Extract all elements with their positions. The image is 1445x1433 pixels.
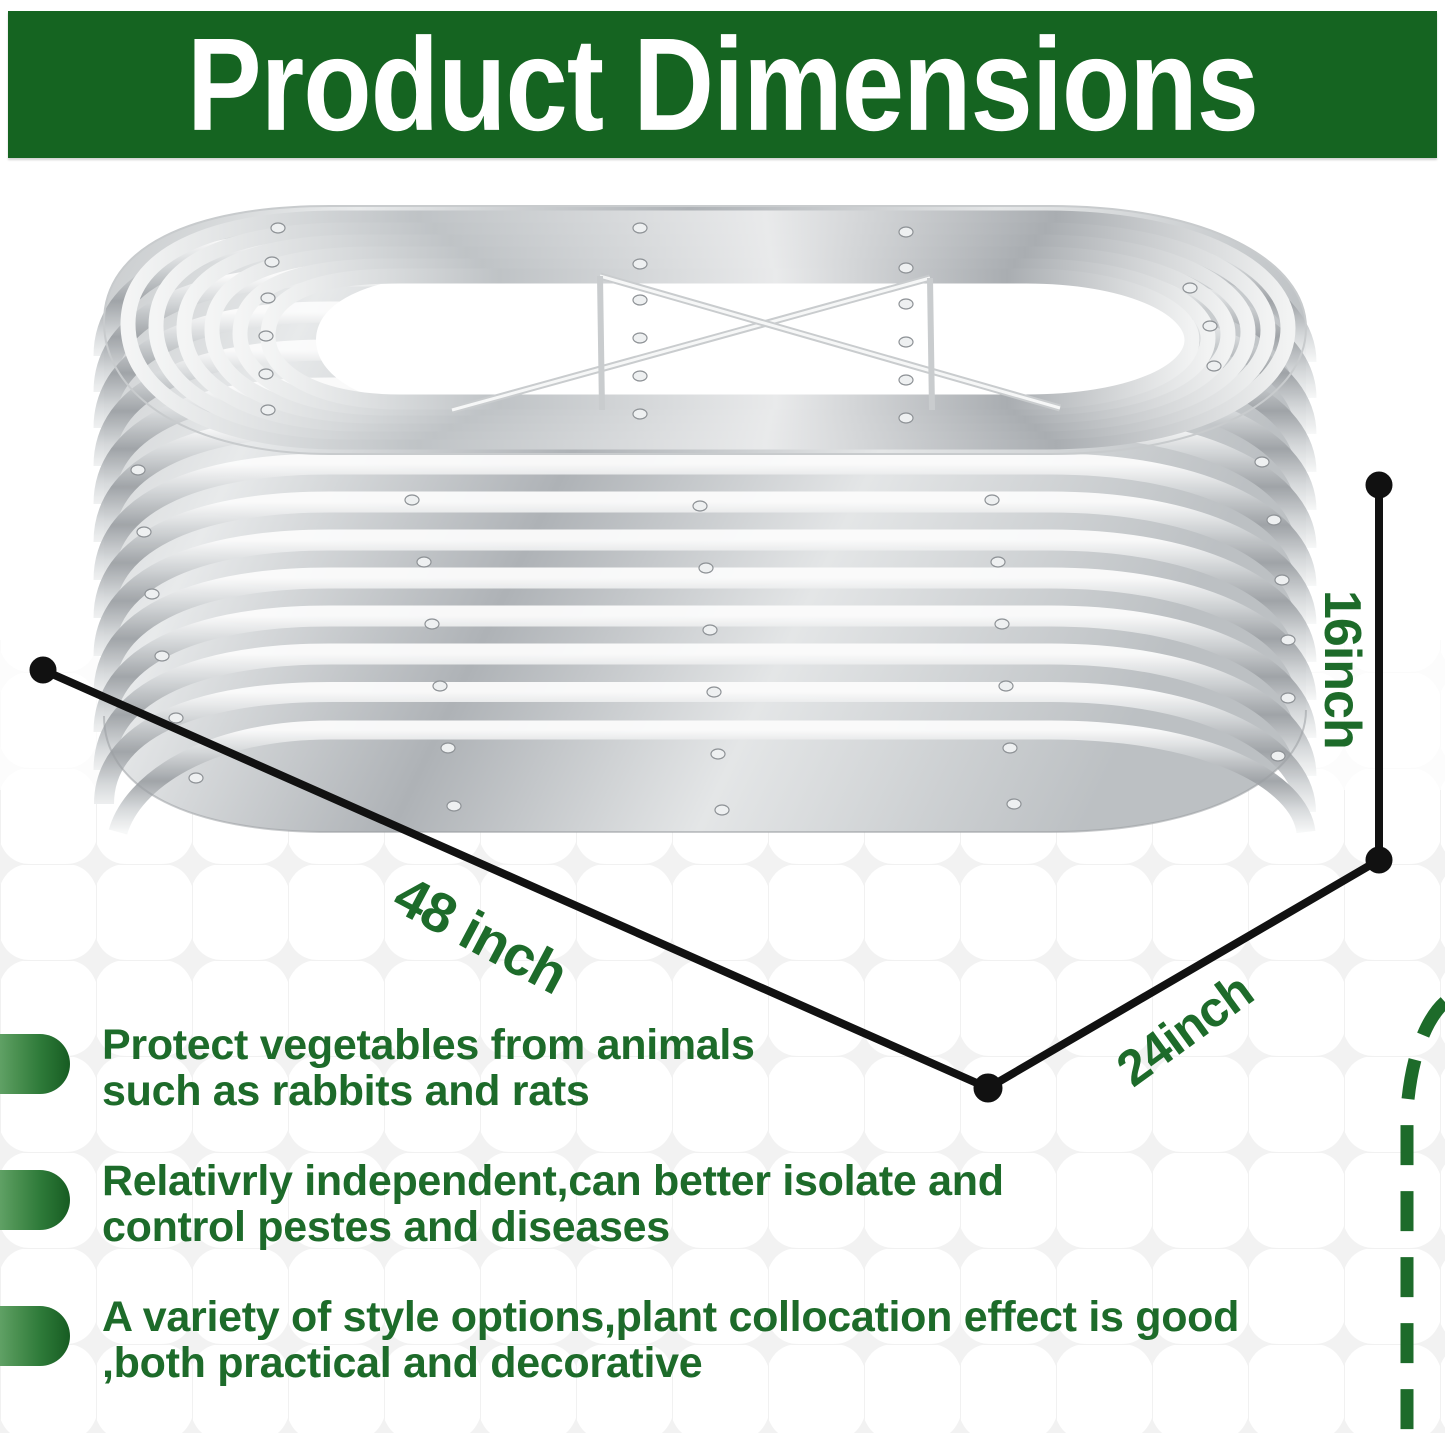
height-dimension-endpoint-top: [1366, 472, 1392, 498]
bullet-marker-icon: [0, 1034, 70, 1094]
bullet-marker-icon: [0, 1306, 70, 1366]
feature-text: A variety of style options,plant colloca…: [102, 1294, 1282, 1387]
header-banner: Product Dimensions: [8, 11, 1437, 158]
feature-item: A variety of style options,plant colloca…: [0, 1294, 1445, 1390]
feature-text: Protect vegetables from animals such as …: [102, 1022, 842, 1115]
feature-item: Relativrly independent,can better isolat…: [0, 1158, 1445, 1254]
feature-list: Protect vegetables from animals such as …: [0, 1022, 1445, 1430]
page-title: Product Dimensions: [8, 0, 1437, 171]
feature-text: Relativrly independent,can better isolat…: [102, 1158, 1102, 1251]
height-dimension-endpoint-bottom: [1366, 847, 1392, 873]
length-dimension-endpoint: [30, 657, 56, 683]
raised-garden-bed-body: [104, 206, 1306, 832]
height-dimension-label: 16inch: [1312, 590, 1372, 749]
feature-item: Protect vegetables from animals such as …: [0, 1022, 1445, 1118]
bullet-marker-icon: [0, 1170, 70, 1230]
